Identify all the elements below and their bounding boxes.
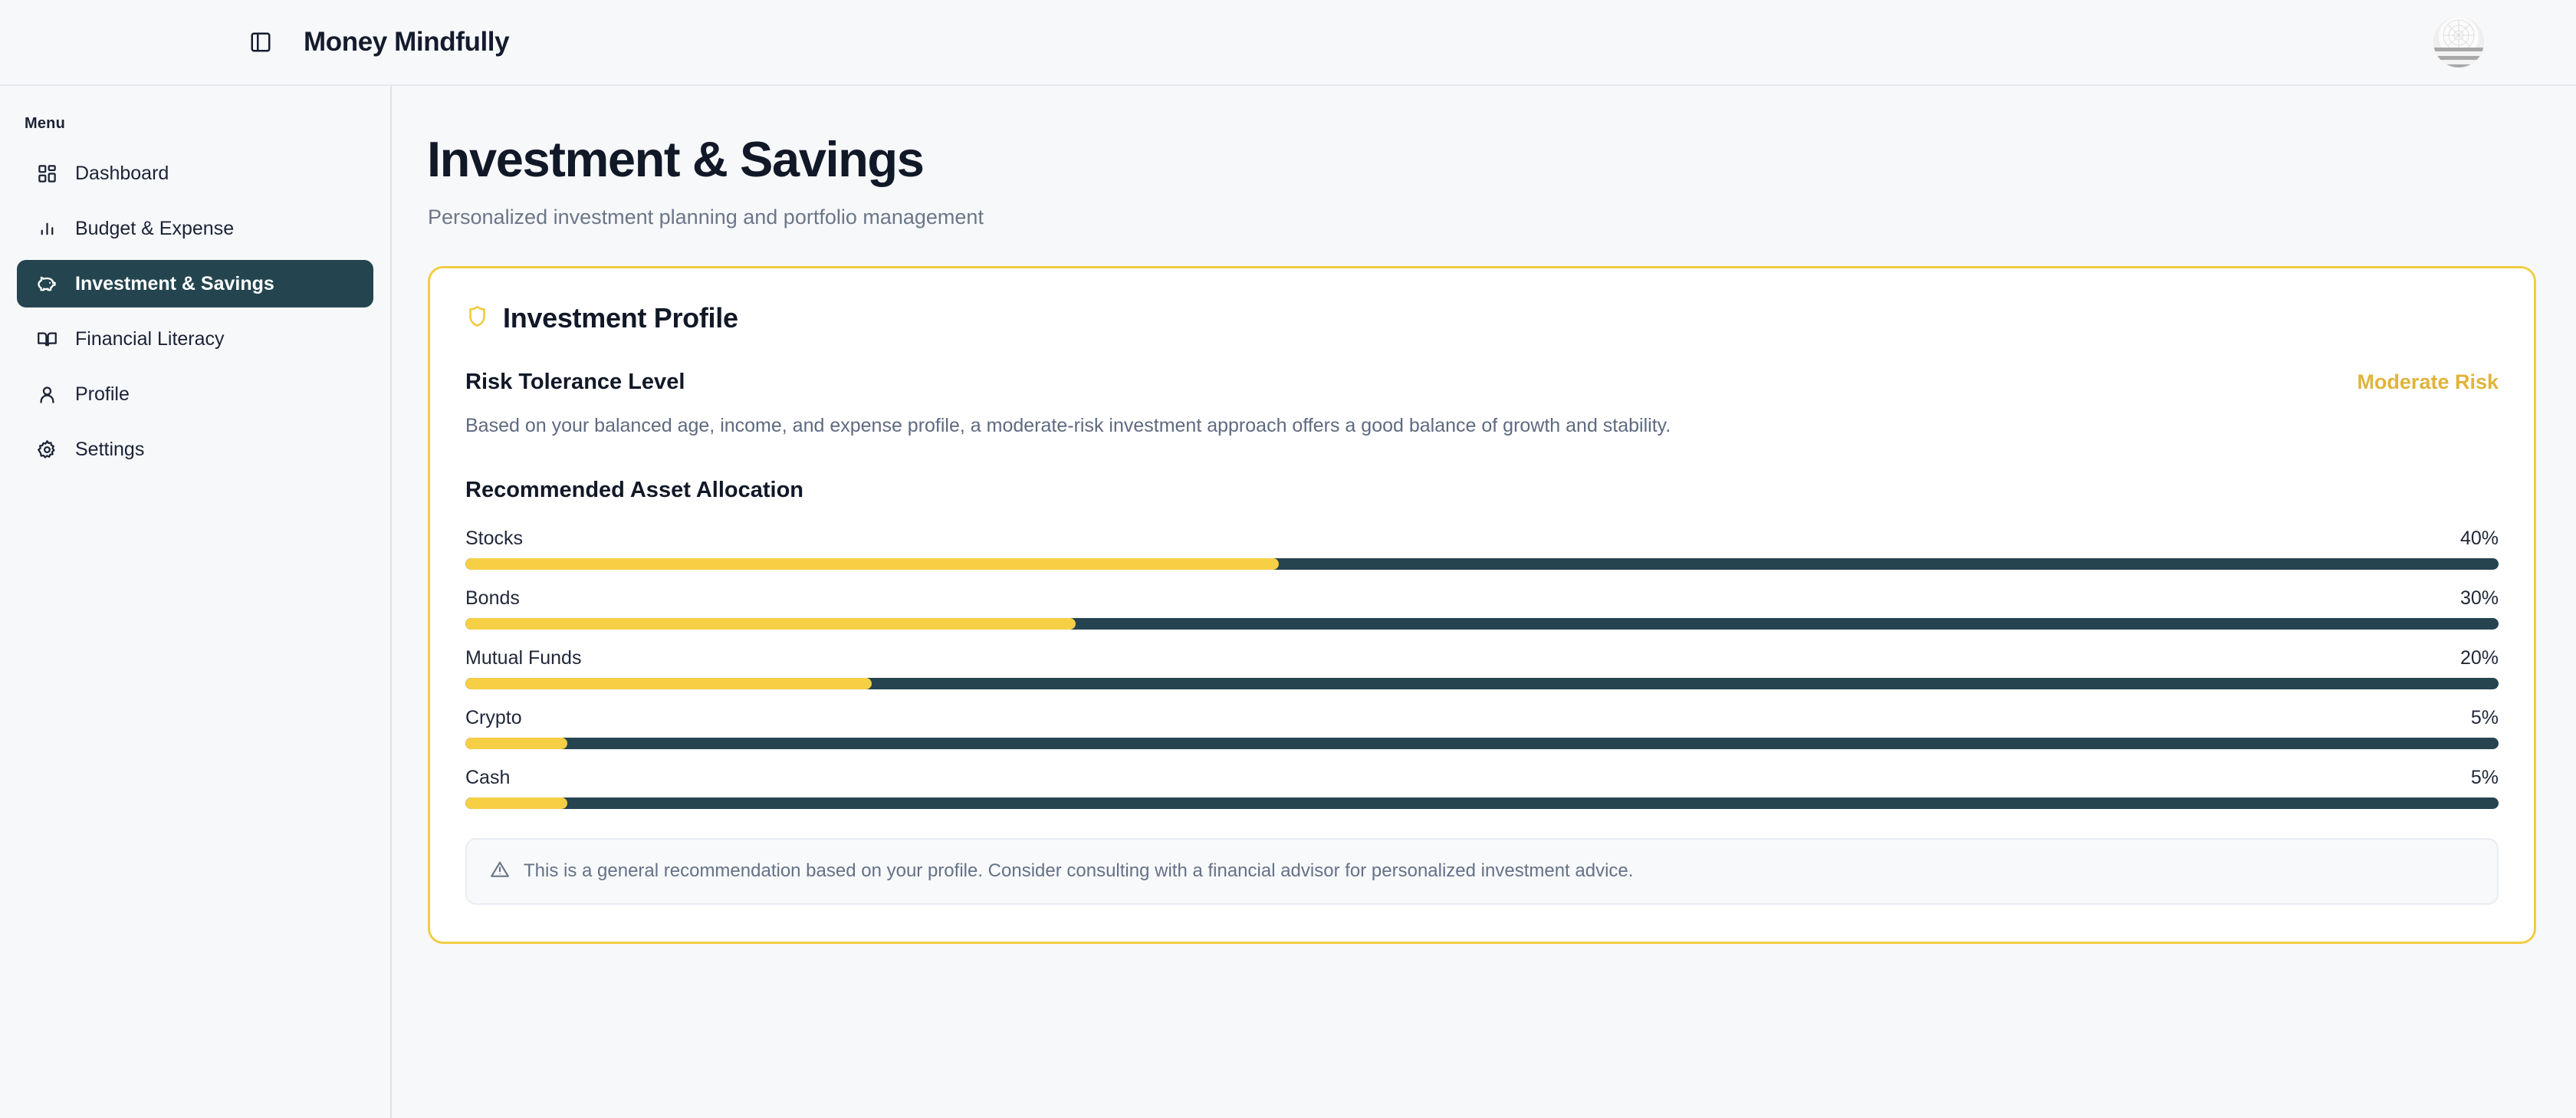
sidebar-toggle-button[interactable] xyxy=(244,25,278,59)
allocation-value: 30% xyxy=(2460,587,2499,610)
allocation-progress-track xyxy=(465,678,2499,689)
allocation-progress-fill xyxy=(465,678,872,689)
sidebar-item-financial-literacy[interactable]: Financial Literacy xyxy=(17,315,373,363)
sidebar-item-profile[interactable]: Profile xyxy=(17,370,373,418)
allocation-row-bonds: Bonds 30% xyxy=(465,587,2499,630)
allocation-progress-track xyxy=(465,558,2499,570)
sidebar-item-budget-expense[interactable]: Budget & Expense xyxy=(17,205,373,252)
allocation-label: Stocks xyxy=(465,528,523,550)
allocation-progress-fill xyxy=(465,797,567,809)
allocation-label: Cash xyxy=(465,767,510,789)
main-content: Investment & Savings Personalized invest… xyxy=(392,86,2576,1118)
sidebar-item-settings[interactable]: Settings xyxy=(17,426,373,473)
allocation-value: 40% xyxy=(2460,528,2499,550)
warning-triangle-icon xyxy=(490,860,510,883)
risk-tolerance-label: Risk Tolerance Level xyxy=(465,370,685,395)
app-title: Money Mindfully xyxy=(304,27,509,58)
disclaimer-note: This is a general recommendation based o… xyxy=(465,838,2499,905)
sidebar-item-dashboard[interactable]: Dashboard xyxy=(17,150,373,197)
allocation-progress-track xyxy=(465,738,2499,749)
sidebar: Menu Dashboard Budget & Expense Investme… xyxy=(0,86,392,1118)
sidebar-menu-label: Menu xyxy=(25,115,390,133)
card-title: Investment Profile xyxy=(503,302,738,334)
page-title: Investment & Savings xyxy=(427,133,2525,186)
allocation-value: 5% xyxy=(2471,767,2499,789)
allocation-label: Mutual Funds xyxy=(465,647,581,669)
piggy-bank-icon xyxy=(34,271,60,297)
allocation-progress-fill xyxy=(465,738,567,749)
allocation-progress-track xyxy=(465,618,2499,630)
allocation-title: Recommended Asset Allocation xyxy=(465,478,2499,503)
allocation-label: Bonds xyxy=(465,587,520,610)
gear-icon xyxy=(34,436,60,462)
user-avatar-icon xyxy=(2433,17,2484,67)
sidebar-item-label: Financial Literacy xyxy=(75,328,225,350)
avatar[interactable] xyxy=(2433,17,2484,67)
allocation-row-mutual-funds: Mutual Funds 20% xyxy=(465,647,2499,689)
card-header: Investment Profile xyxy=(465,302,2499,334)
bar-chart-icon xyxy=(34,215,60,242)
page-subtitle: Personalized investment planning and por… xyxy=(428,206,2525,229)
sidebar-item-label: Profile xyxy=(75,383,130,406)
risk-tolerance-row: Risk Tolerance Level Moderate Risk xyxy=(465,370,2499,395)
book-open-icon xyxy=(34,326,60,352)
sidebar-toggle-icon xyxy=(249,31,272,54)
top-header-bar: Money Mindfully xyxy=(0,0,2576,86)
allocation-value: 5% xyxy=(2471,707,2499,729)
allocation-row-stocks: Stocks 40% xyxy=(465,528,2499,570)
sidebar-item-label: Dashboard xyxy=(75,163,169,185)
allocation-row-cash: Cash 5% xyxy=(465,767,2499,809)
allocation-row-crypto: Crypto 5% xyxy=(465,707,2499,749)
disclaimer-text: This is a general recommendation based o… xyxy=(524,860,1633,882)
allocation-progress-fill xyxy=(465,618,1076,630)
shield-icon xyxy=(465,304,489,332)
risk-level-badge: Moderate Risk xyxy=(2357,370,2499,394)
risk-description: Based on your balanced age, income, and … xyxy=(465,412,2499,441)
allocation-value: 20% xyxy=(2460,647,2499,669)
sidebar-item-label: Budget & Expense xyxy=(75,218,234,240)
user-icon xyxy=(34,381,60,407)
sidebar-item-label: Investment & Savings xyxy=(75,273,274,295)
layout-grid-icon xyxy=(34,160,60,186)
sidebar-item-label: Settings xyxy=(75,439,144,461)
allocation-label: Crypto xyxy=(465,707,522,729)
sidebar-item-investment-savings[interactable]: Investment & Savings xyxy=(17,260,373,307)
allocation-progress-track xyxy=(465,797,2499,809)
allocation-progress-fill xyxy=(465,558,1279,570)
investment-profile-card: Investment Profile Risk Tolerance Level … xyxy=(428,266,2536,944)
